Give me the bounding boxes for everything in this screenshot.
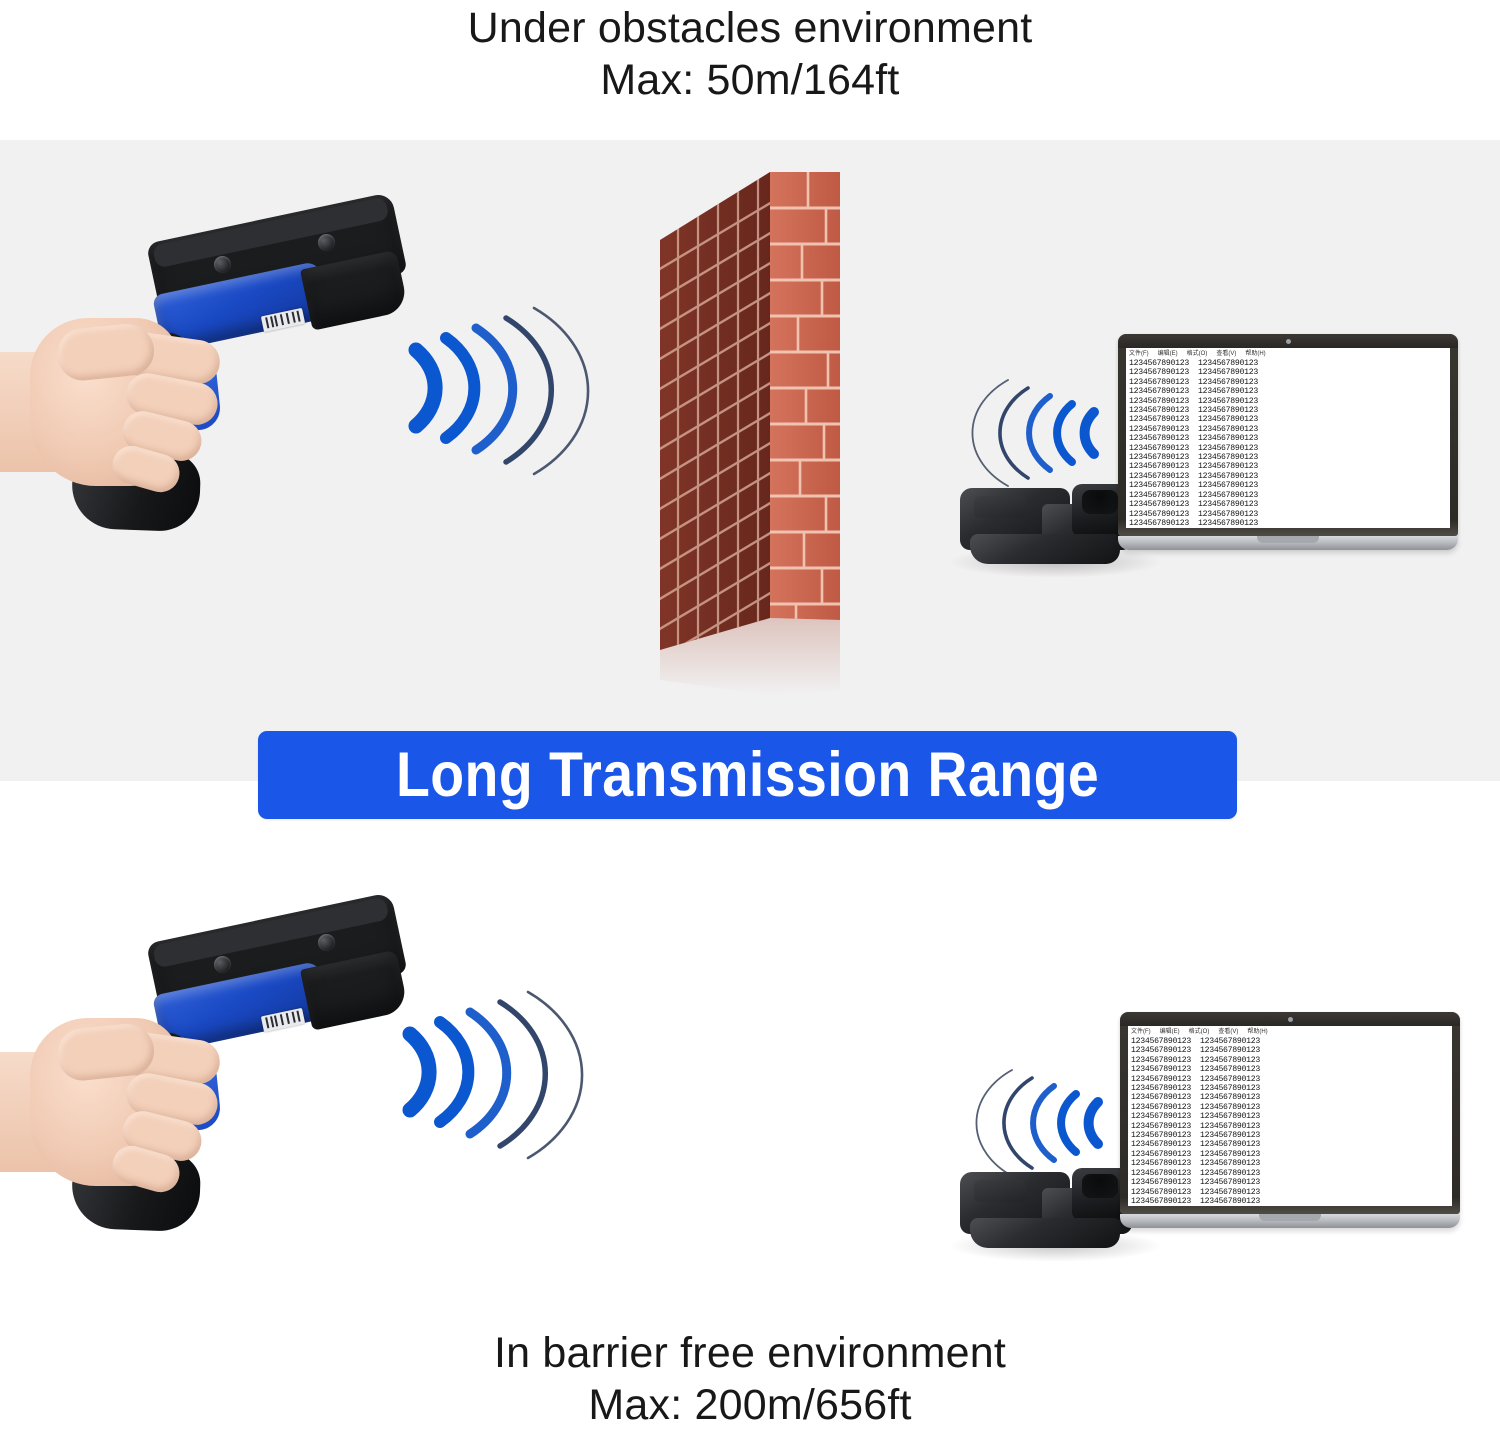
scan-value: 1234567890123 — [1131, 1159, 1191, 1168]
scan-value: 1234567890123 — [1129, 397, 1189, 406]
laptop-screen-top[interactable]: 文件(F) 编辑(E) 格式(O) 查看(V) 帮助(H) 1234567890… — [1126, 348, 1450, 528]
scan-value: 1234567890123 — [1131, 1197, 1191, 1206]
scan-value: 1234567890123 — [1198, 481, 1258, 490]
scan-value: 1234567890123 — [1200, 1140, 1260, 1149]
bottom-caption-line2: Max: 200m/656ft — [0, 1379, 1500, 1431]
scan-value: 1234567890123 — [1129, 453, 1189, 462]
notepad-menubar[interactable]: 文件(F) 编辑(E) 格式(O) 查看(V) 帮助(H) — [1126, 348, 1450, 359]
scan-value: 1234567890123 — [1200, 1150, 1260, 1159]
scan-row: 12345678901231234567890123 — [1131, 1178, 1449, 1187]
cradle-cup-opening — [1082, 490, 1118, 514]
scan-value: 1234567890123 — [1131, 1046, 1191, 1055]
scan-value: 1234567890123 — [1129, 462, 1189, 471]
scan-value: 1234567890123 — [1198, 368, 1258, 377]
scan-value: 1234567890123 — [1129, 425, 1189, 434]
scan-value: 1234567890123 — [1129, 500, 1189, 509]
cradle-top-pad — [974, 1180, 1026, 1202]
scan-value: 1234567890123 — [1200, 1084, 1260, 1093]
menu-item-format[interactable]: 格式(O) — [1189, 1028, 1210, 1036]
scan-value: 1234567890123 — [1131, 1131, 1191, 1140]
scan-value: 1234567890123 — [1198, 406, 1258, 415]
scan-row: 12345678901231234567890123 — [1129, 472, 1447, 481]
webcam-icon — [1288, 1017, 1293, 1022]
scan-row: 12345678901231234567890123 — [1129, 368, 1447, 377]
scan-value: 1234567890123 — [1131, 1178, 1191, 1187]
menu-item-help[interactable]: 帮助(H) — [1247, 1028, 1267, 1036]
scan-value: 1234567890123 — [1131, 1112, 1191, 1121]
scan-row: 12345678901231234567890123 — [1131, 1103, 1449, 1112]
scan-value: 1234567890123 — [1131, 1140, 1191, 1149]
cradle-foot — [970, 534, 1120, 564]
scan-value: 1234567890123 — [1198, 462, 1258, 471]
menu-item-view[interactable]: 查看(V) — [1216, 350, 1236, 358]
scan-row: 12345678901231234567890123 — [1129, 425, 1447, 434]
signal-waves-incoming-bottom — [962, 1062, 1112, 1180]
scan-row: 12345678901231234567890123 — [1129, 415, 1447, 424]
scan-row: 12345678901231234567890123 — [1129, 406, 1447, 415]
scan-row: 12345678901231234567890123 — [1131, 1065, 1449, 1074]
scan-value: 1234567890123 — [1129, 359, 1189, 368]
top-caption: Under obstacles environment Max: 50m/164… — [0, 2, 1500, 106]
bottom-caption-line1: In barrier free environment — [0, 1327, 1500, 1379]
scan-value: 1234567890123 — [1131, 1122, 1191, 1131]
scan-row: 12345678901231234567890123 — [1129, 434, 1447, 443]
scanned-data-list-bottom: 1234567890123123456789012312345678901231… — [1128, 1037, 1452, 1206]
top-caption-line1: Under obstacles environment — [0, 2, 1500, 54]
scan-row: 12345678901231234567890123 — [1131, 1188, 1449, 1197]
scan-row: 12345678901231234567890123 — [1129, 462, 1447, 471]
scan-row: 12345678901231234567890123 — [1131, 1140, 1449, 1149]
notepad-menubar[interactable]: 文件(F) 编辑(E) 格式(O) 查看(V) 帮助(H) — [1128, 1026, 1452, 1037]
scan-value: 1234567890123 — [1198, 519, 1258, 528]
scan-value: 1234567890123 — [1200, 1065, 1260, 1074]
scan-value: 1234567890123 — [1200, 1112, 1260, 1121]
scan-value: 1234567890123 — [1131, 1188, 1191, 1197]
scan-value: 1234567890123 — [1129, 510, 1189, 519]
scan-value: 1234567890123 — [1129, 472, 1189, 481]
laptop-lid: 文件(F) 编辑(E) 格式(O) 查看(V) 帮助(H) 1234567890… — [1118, 334, 1458, 536]
brick-wall-obstacle — [630, 150, 870, 710]
scan-value: 1234567890123 — [1200, 1103, 1260, 1112]
scan-value: 1234567890123 — [1129, 378, 1189, 387]
scan-value: 1234567890123 — [1131, 1065, 1191, 1074]
scan-value: 1234567890123 — [1198, 510, 1258, 519]
scan-row: 12345678901231234567890123 — [1129, 453, 1447, 462]
menu-item-help[interactable]: 帮助(H) — [1245, 350, 1265, 358]
menu-item-edit[interactable]: 编辑(E) — [1158, 350, 1178, 358]
scan-value: 1234567890123 — [1200, 1037, 1260, 1046]
scan-value: 1234567890123 — [1198, 434, 1258, 443]
scan-value: 1234567890123 — [1129, 368, 1189, 377]
scan-value: 1234567890123 — [1198, 387, 1258, 396]
scanned-data-list-top: 1234567890123123456789012312345678901231… — [1126, 359, 1450, 528]
signal-waves-outgoing-top — [398, 288, 598, 488]
scan-row: 12345678901231234567890123 — [1131, 1169, 1449, 1178]
scan-value: 1234567890123 — [1200, 1093, 1260, 1102]
scan-row: 12345678901231234567890123 — [1131, 1037, 1449, 1046]
scan-row: 12345678901231234567890123 — [1131, 1150, 1449, 1159]
scan-row: 12345678901231234567890123 — [1129, 519, 1447, 528]
scan-value: 1234567890123 — [1129, 444, 1189, 453]
scan-value: 1234567890123 — [1200, 1188, 1260, 1197]
product-infographic: Under obstacles environment Max: 50m/164… — [0, 0, 1500, 1449]
menu-item-edit[interactable]: 编辑(E) — [1160, 1028, 1180, 1036]
scan-value: 1234567890123 — [1129, 434, 1189, 443]
scan-value: 1234567890123 — [1200, 1159, 1260, 1168]
menu-item-format[interactable]: 格式(O) — [1187, 350, 1208, 358]
laptop-trackpad-notch — [1259, 1214, 1321, 1221]
scan-value: 1234567890123 — [1131, 1150, 1191, 1159]
scan-value: 1234567890123 — [1200, 1046, 1260, 1055]
scan-row: 12345678901231234567890123 — [1131, 1112, 1449, 1121]
menu-item-file[interactable]: 文件(F) — [1131, 1028, 1151, 1036]
scan-value: 1234567890123 — [1131, 1103, 1191, 1112]
scan-value: 1234567890123 — [1198, 453, 1258, 462]
scan-row: 12345678901231234567890123 — [1131, 1197, 1449, 1206]
scan-value: 1234567890123 — [1200, 1178, 1260, 1187]
scan-value: 1234567890123 — [1198, 397, 1258, 406]
scan-value: 1234567890123 — [1131, 1084, 1191, 1093]
signal-waves-incoming-top — [958, 372, 1108, 490]
cradle-top-pad — [974, 496, 1026, 518]
laptop-top-bezel — [1120, 1012, 1460, 1026]
signal-waves-outgoing-bottom — [392, 972, 592, 1172]
scan-value: 1234567890123 — [1198, 359, 1258, 368]
scan-value: 1234567890123 — [1198, 491, 1258, 500]
scan-value: 1234567890123 — [1131, 1093, 1191, 1102]
bottom-caption: In barrier free environment Max: 200m/65… — [0, 1327, 1500, 1431]
laptop-lid: 文件(F) 编辑(E) 格式(O) 查看(V) 帮助(H) 1234567890… — [1120, 1012, 1460, 1214]
scan-row: 12345678901231234567890123 — [1129, 387, 1447, 396]
scan-row: 12345678901231234567890123 — [1131, 1046, 1449, 1055]
scan-value: 1234567890123 — [1198, 415, 1258, 424]
scan-value: 1234567890123 — [1129, 387, 1189, 396]
menu-item-view[interactable]: 查看(V) — [1218, 1028, 1238, 1036]
laptop-screen-bottom[interactable]: 文件(F) 编辑(E) 格式(O) 查看(V) 帮助(H) 1234567890… — [1128, 1026, 1452, 1206]
scan-row: 12345678901231234567890123 — [1129, 510, 1447, 519]
scan-row: 12345678901231234567890123 — [1131, 1075, 1449, 1084]
scan-value: 1234567890123 — [1200, 1056, 1260, 1065]
scan-value: 1234567890123 — [1200, 1122, 1260, 1131]
scan-value: 1234567890123 — [1200, 1169, 1260, 1178]
laptop-bottom: 文件(F) 编辑(E) 格式(O) 查看(V) 帮助(H) 1234567890… — [1120, 1012, 1460, 1238]
scan-row: 12345678901231234567890123 — [1129, 359, 1447, 368]
laptop-base — [1120, 1214, 1460, 1228]
top-caption-line2: Max: 50m/164ft — [0, 54, 1500, 106]
scan-value: 1234567890123 — [1131, 1056, 1191, 1065]
scan-row: 12345678901231234567890123 — [1131, 1093, 1449, 1102]
cradle-foot — [970, 1218, 1120, 1248]
scan-row: 12345678901231234567890123 — [1129, 491, 1447, 500]
scan-row: 12345678901231234567890123 — [1129, 397, 1447, 406]
scan-row: 12345678901231234567890123 — [1131, 1159, 1449, 1168]
scan-value: 1234567890123 — [1131, 1037, 1191, 1046]
scan-value: 1234567890123 — [1129, 406, 1189, 415]
laptop-base — [1118, 536, 1458, 550]
scan-row: 12345678901231234567890123 — [1131, 1122, 1449, 1131]
scan-value: 1234567890123 — [1200, 1131, 1260, 1140]
scan-row: 12345678901231234567890123 — [1131, 1056, 1449, 1065]
headline-banner: Long Transmission Range — [258, 731, 1237, 819]
headline-banner-label: Long Transmission Range — [396, 744, 1099, 807]
scan-value: 1234567890123 — [1129, 491, 1189, 500]
scan-value: 1234567890123 — [1131, 1169, 1191, 1178]
scan-value: 1234567890123 — [1200, 1075, 1260, 1084]
laptop-top-bezel — [1118, 334, 1458, 348]
scan-value: 1234567890123 — [1198, 378, 1258, 387]
scan-value: 1234567890123 — [1131, 1075, 1191, 1084]
scan-value: 1234567890123 — [1198, 500, 1258, 509]
webcam-icon — [1286, 339, 1291, 344]
scan-value: 1234567890123 — [1198, 425, 1258, 434]
scan-value: 1234567890123 — [1200, 1197, 1260, 1206]
scan-row: 12345678901231234567890123 — [1129, 500, 1447, 509]
laptop-trackpad-notch — [1257, 536, 1319, 543]
laptop-top: 文件(F) 编辑(E) 格式(O) 查看(V) 帮助(H) 1234567890… — [1118, 334, 1458, 560]
menu-item-file[interactable]: 文件(F) — [1129, 350, 1149, 358]
scan-value: 1234567890123 — [1129, 481, 1189, 490]
scan-value: 1234567890123 — [1129, 519, 1189, 528]
scan-value: 1234567890123 — [1129, 415, 1189, 424]
cradle-cup-opening — [1082, 1174, 1118, 1198]
scan-row: 12345678901231234567890123 — [1131, 1131, 1449, 1140]
scan-value: 1234567890123 — [1198, 472, 1258, 481]
scan-row: 12345678901231234567890123 — [1129, 378, 1447, 387]
scan-row: 12345678901231234567890123 — [1129, 481, 1447, 490]
scan-row: 12345678901231234567890123 — [1131, 1084, 1449, 1093]
scan-row: 12345678901231234567890123 — [1129, 444, 1447, 453]
scan-value: 1234567890123 — [1198, 444, 1258, 453]
